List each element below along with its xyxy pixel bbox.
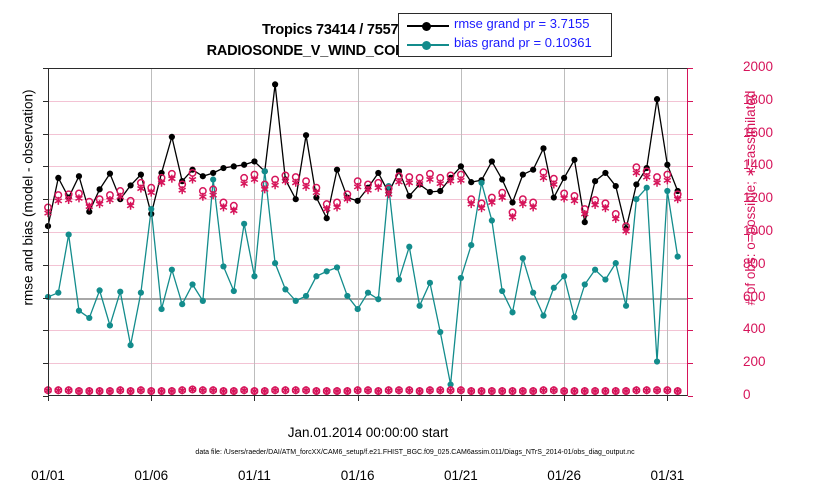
x-tick-mark	[48, 396, 49, 401]
legend-marker-rmse	[422, 22, 431, 31]
title-line-2: RADIOSONDE_V_WIND_COMPONENT @ 55 hPa	[0, 41, 740, 62]
y-tick-mark-right	[688, 199, 693, 200]
plot-area: -3-2-10123456702004006008001000120014001…	[48, 68, 688, 396]
y-tick-mark-right	[688, 101, 693, 102]
y-tick-label-right: 1200	[743, 190, 789, 205]
y-tick-mark-left	[43, 166, 48, 167]
legend-item-bias: bias grand pr = 0.10361	[399, 34, 611, 55]
y-tick-mark-right	[688, 134, 693, 135]
y-tick-mark-left	[43, 363, 48, 364]
y-tick-mark-left	[43, 134, 48, 135]
legend-label-rmse: rmse grand pr = 3.7155	[454, 16, 590, 31]
legend-item-rmse: rmse grand pr = 3.7155	[399, 15, 611, 36]
x-tick-label: 01/26	[534, 468, 594, 483]
y-tick-mark-left	[43, 199, 48, 200]
y-tick-label-right: 1800	[743, 92, 789, 107]
y-tick-label-right: 1400	[743, 157, 789, 172]
legend-label-bias: bias grand pr = 0.10361	[454, 35, 592, 50]
x-tick-mark	[151, 396, 152, 401]
y-tick-mark-left	[43, 330, 48, 331]
y-tick-label-right: 200	[743, 354, 789, 369]
x-tick-mark	[667, 396, 668, 401]
x-tick-label: 01/31	[637, 468, 697, 483]
y-tick-label-right: 1600	[743, 125, 789, 140]
y-tick-mark-right	[688, 68, 693, 69]
x-tick-mark	[254, 396, 255, 401]
chart-page: Tropics 73414 / 75579 = 97.135% RADIOSON…	[0, 0, 830, 470]
data-file-footer: data file: /Users/raeder/DAI/ATM_forcXX/…	[0, 449, 830, 456]
y-tick-mark-right	[688, 396, 693, 397]
x-tick-mark	[358, 396, 359, 401]
y-tick-mark-right	[688, 265, 693, 266]
chart-title: Tropics 73414 / 75579 = 97.135% RADIOSON…	[0, 20, 740, 62]
y-tick-mark-left	[43, 68, 48, 69]
y-tick-mark-right	[688, 330, 693, 331]
y-tick-mark-left	[43, 265, 48, 266]
title-line-1: Tropics 73414 / 75579 = 97.135%	[0, 20, 740, 41]
y-tick-mark-right	[688, 363, 693, 364]
x-tick-mark	[461, 396, 462, 401]
x-axis-label: Jan.01.2014 00:00:00 start	[48, 425, 688, 440]
y-tick-label-right: 2000	[743, 59, 789, 74]
legend-marker-bias	[422, 41, 431, 50]
y-tick-label-right: 800	[743, 256, 789, 271]
plot-border	[48, 68, 688, 396]
x-tick-label: 01/06	[121, 468, 181, 483]
y-axis-label-left: rmse and bias (model - observation)	[21, 33, 36, 363]
y-tick-label-right: 1000	[743, 223, 789, 238]
x-tick-label: 01/01	[18, 468, 78, 483]
x-tick-label: 01/16	[328, 468, 388, 483]
x-tick-label: 01/21	[431, 468, 491, 483]
y-tick-mark-right	[688, 298, 693, 299]
y-tick-label-right: 0	[743, 387, 789, 402]
y-tick-mark-left	[43, 232, 48, 233]
y-tick-mark-right	[688, 166, 693, 167]
x-tick-label: 01/11	[224, 468, 284, 483]
chart-legend: rmse grand pr = 3.7155 bias grand pr = 0…	[398, 13, 612, 57]
y-tick-label-right: 400	[743, 321, 789, 336]
y-tick-mark-left	[43, 101, 48, 102]
x-tick-mark	[564, 396, 565, 401]
y-tick-mark-right	[688, 232, 693, 233]
y-tick-label-right: 600	[743, 289, 789, 304]
y-tick-mark-left	[43, 298, 48, 299]
